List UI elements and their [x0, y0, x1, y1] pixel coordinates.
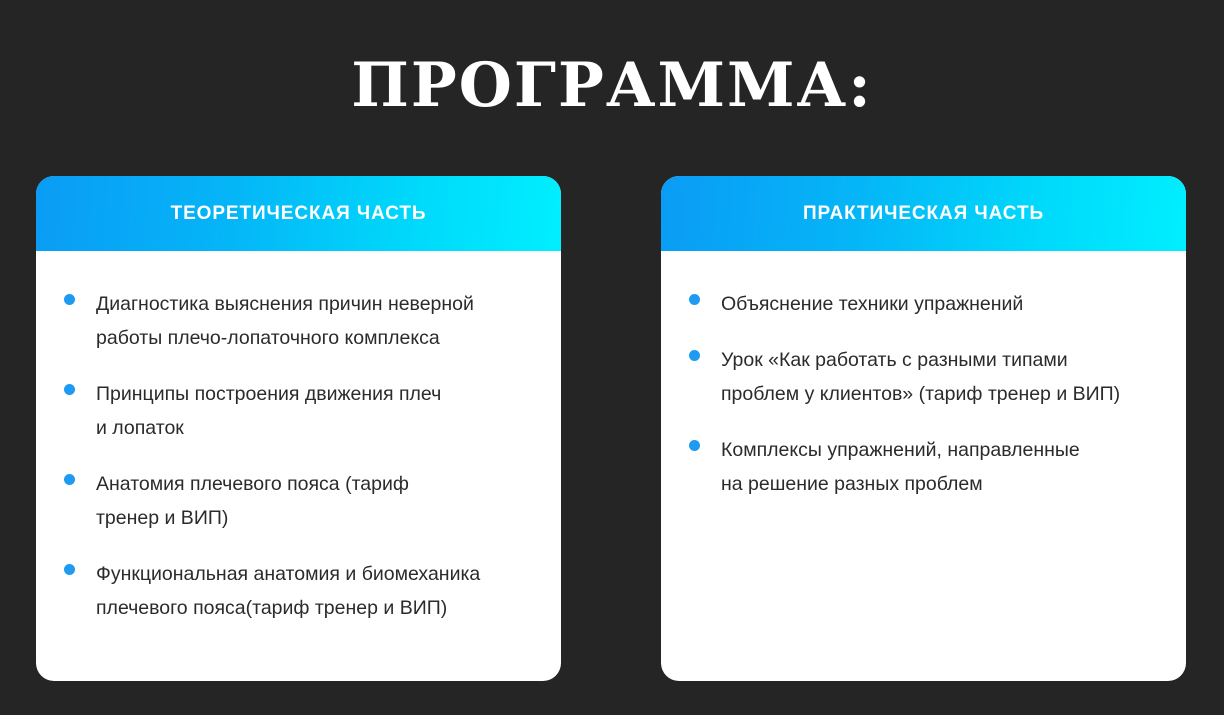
- list-item: Комплексы упражнений, направленные на ре…: [689, 433, 1158, 501]
- list-item: Принципы построения движения плеч и лопа…: [64, 377, 533, 445]
- theory-bullet-list: Диагностика выяснения причин неверной ра…: [64, 287, 533, 625]
- list-item-label: Комплексы упражнений, направленные на ре…: [721, 433, 1080, 501]
- list-item-label: Объяснение техники упражнений: [721, 287, 1023, 321]
- bullet-dot-icon: [64, 384, 75, 395]
- list-item: Объяснение техники упражнений: [689, 287, 1158, 321]
- card-practice: ПРАКТИЧЕСКАЯ ЧАСТЬ Объяснение техники уп…: [661, 176, 1186, 681]
- list-item-label: Диагностика выяснения причин неверной ра…: [96, 287, 474, 355]
- bullet-dot-icon: [64, 474, 75, 485]
- list-item-label: Анатомия плечевого пояса (тариф тренер и…: [96, 467, 409, 535]
- list-item-label: Функциональная анатомия и биомеханика пл…: [96, 557, 480, 625]
- bullet-dot-icon: [64, 294, 75, 305]
- card-theory-header: ТЕОРЕТИЧЕСКАЯ ЧАСТЬ: [36, 176, 561, 251]
- list-item: Урок «Как работать с разными типами проб…: [689, 343, 1158, 411]
- card-practice-header-label: ПРАКТИЧЕСКАЯ ЧАСТЬ: [803, 203, 1044, 225]
- list-item: Анатомия плечевого пояса (тариф тренер и…: [64, 467, 533, 535]
- list-item: Функциональная анатомия и биомеханика пл…: [64, 557, 533, 625]
- bullet-dot-icon: [64, 564, 75, 575]
- card-practice-body: Объяснение техники упражнений Урок «Как …: [661, 251, 1186, 681]
- bullet-dot-icon: [689, 440, 700, 451]
- page-title: ПРОГРАММА:: [0, 50, 1224, 122]
- card-theory-body: Диагностика выяснения причин неверной ра…: [36, 251, 561, 681]
- card-theory: ТЕОРЕТИЧЕСКАЯ ЧАСТЬ Диагностика выяснени…: [36, 176, 561, 681]
- list-item-label: Принципы построения движения плеч и лопа…: [96, 377, 441, 445]
- bullet-dot-icon: [689, 294, 700, 305]
- card-practice-header: ПРАКТИЧЕСКАЯ ЧАСТЬ: [661, 176, 1186, 251]
- list-item: Диагностика выяснения причин неверной ра…: [64, 287, 533, 355]
- card-theory-header-label: ТЕОРЕТИЧЕСКАЯ ЧАСТЬ: [171, 203, 427, 225]
- bullet-dot-icon: [689, 350, 700, 361]
- slide-root: ПРОГРАММА: ТЕОРЕТИЧЕСКАЯ ЧАСТЬ Диагности…: [0, 0, 1224, 715]
- practice-bullet-list: Объяснение техники упражнений Урок «Как …: [689, 287, 1158, 501]
- list-item-label: Урок «Как работать с разными типами проб…: [721, 343, 1120, 411]
